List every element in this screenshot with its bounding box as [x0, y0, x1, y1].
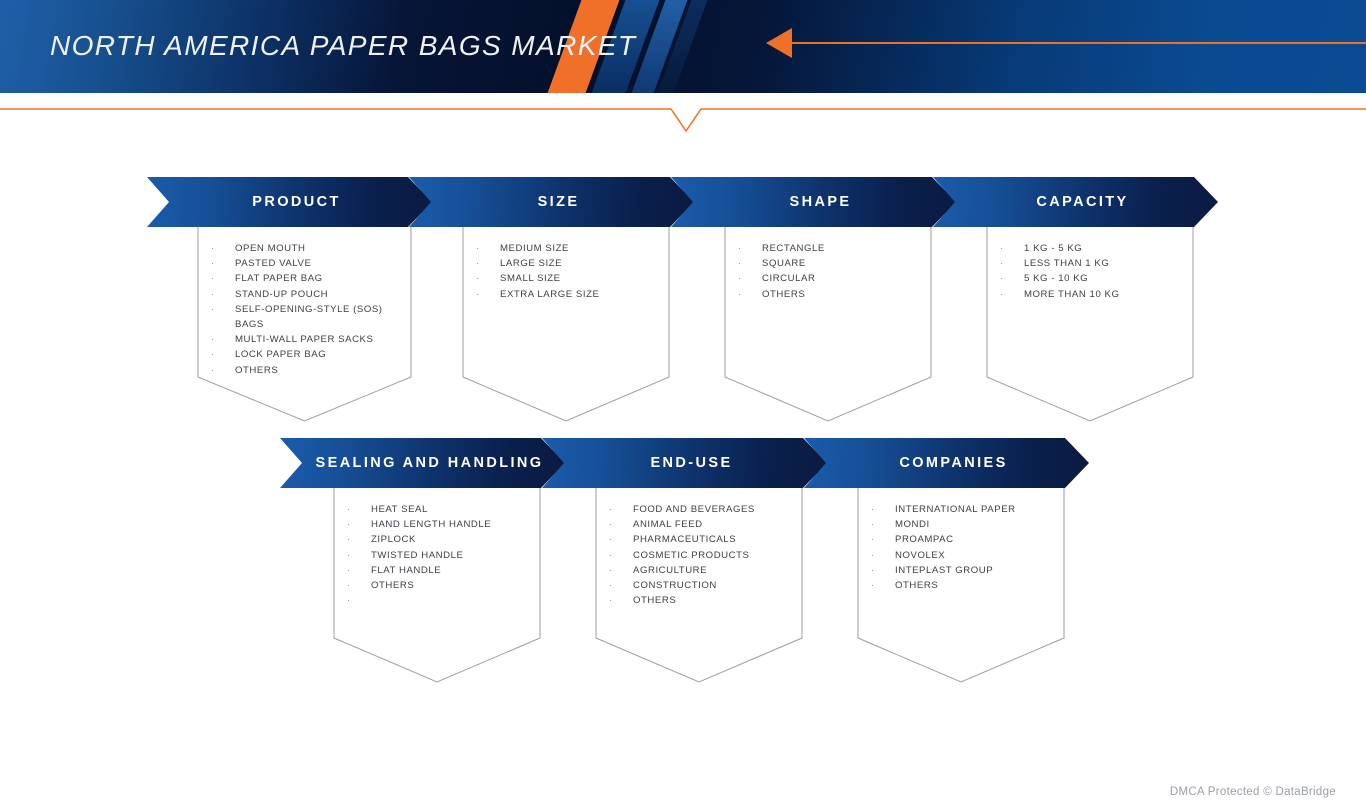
segment-card-sealing-and-handling: ·HEAT SEAL ·HAND LENGTH HANDLE ·ZIPLOCK … — [333, 488, 541, 683]
segment-list-product: ·OPEN MOUTH ·PASTED VALVE ·FLAT PAPER BA… — [197, 227, 412, 378]
bullet-icon: · — [738, 241, 762, 256]
segment-list-shape: ·RECTANGLE ·SQUARE ·CIRCULAR ·OTHERS — [724, 227, 932, 302]
list-item: ·COSMETIC PRODUCTS — [609, 548, 793, 563]
list-item: ·HAND LENGTH HANDLE — [347, 517, 531, 532]
list-item: ·SMALL SIZE — [476, 271, 660, 286]
list-item: ·INTEPLAST GROUP — [871, 563, 1055, 578]
list-item: ·CIRCULAR — [738, 271, 922, 286]
list-item: ·LARGE SIZE — [476, 256, 660, 271]
bullet-icon: · — [871, 502, 895, 517]
segment-card-capacity: ·1 KG - 5 KG ·LESS THAN 1 KG ·5 KG - 10 … — [986, 227, 1194, 422]
list-item: ·CONSTRUCTION — [609, 578, 793, 593]
bullet-icon: · — [211, 241, 235, 256]
bullet-icon: · — [609, 593, 633, 608]
list-item: ·FOOD AND BEVERAGES — [609, 502, 793, 517]
list-item: ·TWISTED HANDLE — [347, 548, 531, 563]
bullet-icon: · — [871, 548, 895, 563]
segment-card-end-use: ·FOOD AND BEVERAGES ·ANIMAL FEED ·PHARMA… — [595, 488, 803, 683]
list-item: ·INTERNATIONAL PAPER — [871, 502, 1055, 517]
bullet-icon: · — [609, 517, 633, 532]
list-item: ·RECTANGLE — [738, 241, 922, 256]
bullet-icon: · — [347, 563, 371, 578]
segment-list-capacity: ·1 KG - 5 KG ·LESS THAN 1 KG ·5 KG - 10 … — [986, 227, 1194, 302]
bullet-icon: · — [211, 256, 235, 271]
bullet-icon: · — [476, 287, 500, 302]
list-item: ·HEAT SEAL — [347, 502, 531, 517]
bullet-icon: · — [1000, 287, 1024, 302]
list-item: ·EXTRA LARGE SIZE — [476, 287, 660, 302]
bullet-icon: · — [609, 532, 633, 547]
segment-card-product: ·OPEN MOUTH ·PASTED VALVE ·FLAT PAPER BA… — [197, 227, 412, 422]
list-item: ·FLAT HANDLE — [347, 563, 531, 578]
bullet-icon: · — [609, 578, 633, 593]
list-item: ·AGRICULTURE — [609, 563, 793, 578]
bullet-icon: · — [738, 271, 762, 286]
list-item: ·OTHERS — [211, 363, 402, 378]
segment-title-companies: COMPANIES — [885, 455, 1007, 471]
list-item: ·MULTI-WALL PAPER SACKS — [211, 332, 402, 347]
bullet-icon: · — [609, 563, 633, 578]
list-item: · — [347, 593, 531, 608]
bullet-icon: · — [347, 517, 371, 532]
list-item: ·OTHERS — [347, 578, 531, 593]
list-item: ·MEDIUM SIZE — [476, 241, 660, 256]
list-item: ·ANIMAL FEED — [609, 517, 793, 532]
segment-banner-shape[interactable]: SHAPE — [671, 177, 956, 227]
bullet-icon: · — [211, 347, 235, 362]
list-item: ·SQUARE — [738, 256, 922, 271]
bullet-icon: · — [871, 578, 895, 593]
footer-copyright: DMCA Protected © DataBridge — [1170, 786, 1336, 798]
bullet-icon: · — [1000, 241, 1024, 256]
segment-banner-companies[interactable]: COMPANIES — [804, 438, 1089, 488]
bullet-icon: · — [1000, 271, 1024, 286]
segment-card-companies: ·INTERNATIONAL PAPER ·MONDI ·PROAMPAC ·N… — [857, 488, 1065, 683]
segment-banner-capacity[interactable]: CAPACITY — [933, 177, 1218, 227]
bullet-icon: · — [738, 287, 762, 302]
bullet-icon: · — [1000, 256, 1024, 271]
bullet-icon: · — [871, 563, 895, 578]
bullet-icon: · — [609, 548, 633, 563]
list-item: ·5 KG - 10 KG — [1000, 271, 1184, 286]
segment-title-product: PRODUCT — [238, 194, 341, 210]
bullet-icon: · — [871, 532, 895, 547]
bullet-icon: · — [347, 578, 371, 593]
list-item: ·LESS THAN 1 KG — [1000, 256, 1184, 271]
bullet-icon: · — [347, 548, 371, 563]
bullet-icon: · — [211, 332, 235, 347]
segment-title-shape: SHAPE — [776, 194, 852, 210]
segment-banner-end-use[interactable]: END-USE — [542, 438, 827, 488]
bullet-icon: · — [476, 271, 500, 286]
segment-card-shape: ·RECTANGLE ·SQUARE ·CIRCULAR ·OTHERS — [724, 227, 932, 422]
bullet-icon: · — [476, 241, 500, 256]
list-item: ·LOCK PAPER BAG — [211, 347, 402, 362]
list-item: ·PASTED VALVE — [211, 256, 402, 271]
segment-title-capacity: CAPACITY — [1022, 194, 1128, 210]
list-item: ·OTHERS — [609, 593, 793, 608]
bullet-icon: · — [871, 517, 895, 532]
bullet-icon: · — [211, 302, 235, 317]
list-item: ·FLAT PAPER BAG — [211, 271, 402, 286]
list-item: ·NOVOLEX — [871, 548, 1055, 563]
list-item: ·OPEN MOUTH — [211, 241, 402, 256]
list-item: ·SELF-OPENING-STYLE (SOS) BAGS — [211, 302, 402, 332]
bullet-icon: · — [609, 502, 633, 517]
segment-card-size: ·MEDIUM SIZE ·LARGE SIZE ·SMALL SIZE ·EX… — [462, 227, 670, 422]
segment-list-size: ·MEDIUM SIZE ·LARGE SIZE ·SMALL SIZE ·EX… — [462, 227, 670, 302]
segment-list-sealing-and-handling: ·HEAT SEAL ·HAND LENGTH HANDLE ·ZIPLOCK … — [333, 488, 541, 608]
bullet-icon: · — [738, 256, 762, 271]
bullet-icon: · — [211, 363, 235, 378]
list-item: ·STAND-UP POUCH — [211, 287, 402, 302]
segment-list-end-use: ·FOOD AND BEVERAGES ·ANIMAL FEED ·PHARMA… — [595, 488, 803, 608]
segment-banner-size[interactable]: SIZE — [409, 177, 694, 227]
bullet-icon: · — [347, 502, 371, 517]
bullet-icon: · — [211, 271, 235, 286]
list-item: ·ZIPLOCK — [347, 532, 531, 547]
segment-title-end-use: END-USE — [636, 455, 732, 471]
segment-title-sealing-and-handling: SEALING AND HANDLING — [302, 455, 544, 471]
segment-title-size: SIZE — [524, 194, 580, 210]
list-item: ·OTHERS — [738, 287, 922, 302]
bullet-icon: · — [347, 593, 371, 608]
bullet-icon: · — [211, 287, 235, 302]
segmentation-diagram: PRODUCT ·OPEN MOUTH ·PASTED VALVE ·FLAT … — [0, 0, 1366, 808]
list-item: ·1 KG - 5 KG — [1000, 241, 1184, 256]
bullet-icon: · — [347, 532, 371, 547]
list-item: ·MORE THAN 10 KG — [1000, 287, 1184, 302]
segment-banner-sealing-and-handling[interactable]: SEALING AND HANDLING — [280, 438, 565, 488]
bullet-icon: · — [476, 256, 500, 271]
list-item: ·OTHERS — [871, 578, 1055, 593]
list-item: ·PROAMPAC — [871, 532, 1055, 547]
segment-list-companies: ·INTERNATIONAL PAPER ·MONDI ·PROAMPAC ·N… — [857, 488, 1065, 593]
list-item: ·MONDI — [871, 517, 1055, 532]
segment-banner-product[interactable]: PRODUCT — [147, 177, 432, 227]
list-item: ·PHARMACEUTICALS — [609, 532, 793, 547]
